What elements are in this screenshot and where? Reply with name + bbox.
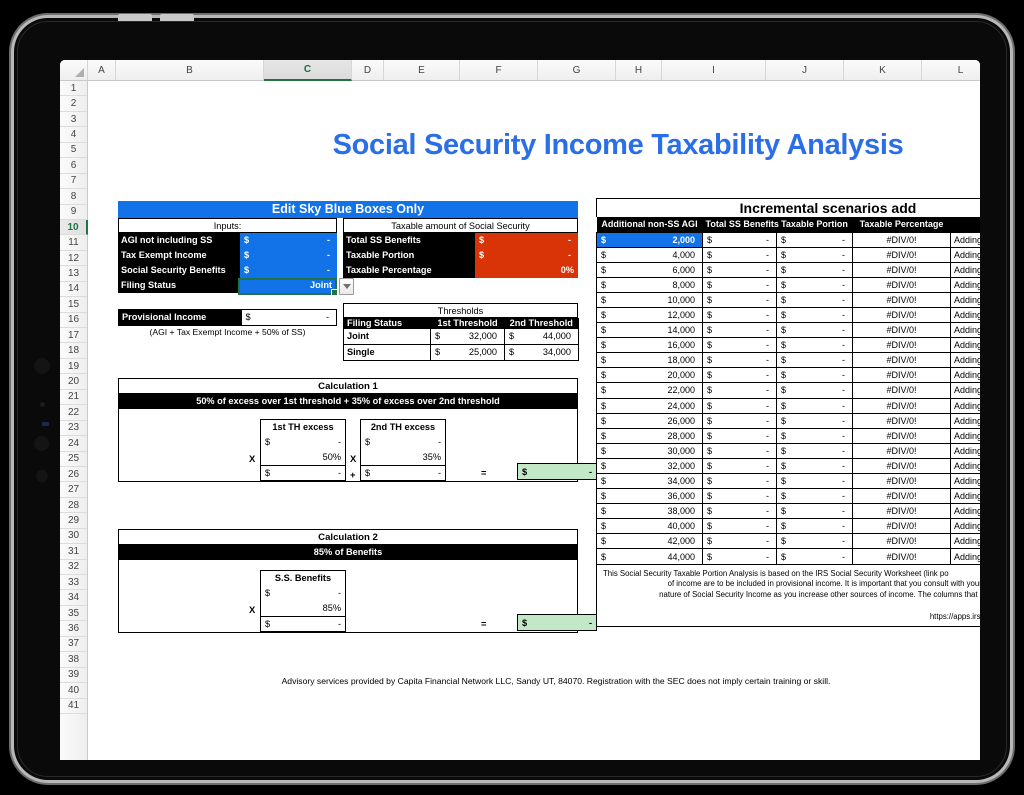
currency-symbol: $: [244, 233, 249, 248]
currency-symbol: $: [601, 416, 606, 426]
footnote-link[interactable]: https://apps.irs.gov/app/vita/content/g: [603, 612, 980, 623]
table-row[interactable]: $38,000$-$-#DIV/0!Adding $: [597, 504, 981, 519]
table-row[interactable]: $22,000$-$-#DIV/0!Adding $: [597, 383, 981, 398]
row-header-1[interactable]: 1: [60, 81, 87, 96]
taxable-label-portion: Taxable Portion: [343, 248, 475, 263]
currency-symbol: $: [365, 435, 370, 450]
volume-up-button[interactable]: [118, 14, 152, 21]
scenarios-col-ss: Total SS Benefits: [703, 217, 777, 232]
scenario-taxable-portion-7-value: -: [780, 340, 849, 350]
table-row[interactable]: $36,000$-$-#DIV/0!Adding $: [597, 489, 981, 504]
scenario-agi-15: $32,000: [597, 458, 703, 473]
scenario-total-ss-10-value: -: [706, 385, 773, 395]
table-row[interactable]: $42,000$-$-#DIV/0!Adding $: [597, 534, 981, 549]
scenario-effect-8: Adding $: [951, 353, 981, 368]
scenario-taxable-percentage-10: #DIV/0!: [853, 383, 951, 398]
scenario-taxable-portion-19-value: -: [780, 521, 849, 531]
scenario-taxable-percentage-2: #DIV/0!: [853, 262, 951, 277]
equals-operator: =: [481, 618, 486, 629]
table-row[interactable]: AGI not including SS $ -: [118, 233, 337, 248]
taxable-amount-table: Total SS Benefits $ - Taxable Portion $ …: [343, 233, 578, 278]
table-row[interactable]: $20,000$-$-#DIV/0!Adding $: [597, 368, 981, 383]
row-header-16[interactable]: 16: [60, 313, 87, 328]
calculation-2-body: X S.S. Benefits $ - 85% $ - =: [119, 560, 577, 632]
table-row[interactable]: $24,000$-$-#DIV/0!Adding $: [597, 398, 981, 413]
table-row[interactable]: $28,000$-$-#DIV/0!Adding $: [597, 428, 981, 443]
currency-symbol: $: [244, 248, 249, 263]
scenario-total-ss-17-value: -: [706, 491, 773, 501]
row-header-13[interactable]: 13: [60, 266, 87, 281]
scenario-taxable-portion-15: $-: [777, 458, 853, 473]
row-header-41[interactable]: 41: [60, 699, 87, 714]
scenario-agi-1-value: 4,000: [600, 250, 699, 260]
scenario-taxable-percentage-8: #DIV/0!: [853, 353, 951, 368]
scenario-taxable-percentage-14: #DIV/0!: [853, 443, 951, 458]
scenario-taxable-percentage-16: #DIV/0!: [853, 474, 951, 489]
scenario-agi-20-value: 42,000: [600, 536, 699, 546]
provisional-income-panel: Provisional Income $ -: [118, 309, 337, 326]
scenario-taxable-portion-14-value: -: [780, 446, 849, 456]
column-header-f[interactable]: F: [460, 60, 538, 80]
row-header-24[interactable]: 24: [60, 436, 87, 451]
scenario-taxable-portion-13: $-: [777, 428, 853, 443]
table-row: Total SS Benefits $ -: [343, 233, 578, 248]
scenario-taxable-portion-16-value: -: [780, 476, 849, 486]
scenario-agi-8: $18,000: [597, 353, 703, 368]
scenario-taxable-percentage-13: #DIV/0!: [853, 428, 951, 443]
footnote-line-2: of income are to be included in provisio…: [603, 579, 980, 590]
scenario-effect-11: Adding $: [951, 398, 981, 413]
scenario-total-ss-16-value: -: [706, 476, 773, 486]
scenario-agi-11-value: 24,000: [600, 401, 699, 411]
row-header-34[interactable]: 34: [60, 590, 87, 605]
table-row: Taxable Portion $ -: [343, 248, 578, 263]
scenario-agi-5-value: 12,000: [600, 310, 699, 320]
currency-symbol: $: [522, 464, 527, 481]
currency-symbol: $: [707, 235, 712, 245]
row-header-19[interactable]: 19: [60, 359, 87, 374]
row-header-29[interactable]: 29: [60, 513, 87, 528]
scenarios-col-tp: Taxable Portion: [777, 217, 853, 232]
table-row[interactable]: $6,000$-$-#DIV/0!Adding $: [597, 262, 981, 277]
second-threshold-excess-amount: -: [361, 435, 445, 450]
scenario-agi-7: $16,000: [597, 338, 703, 353]
row-header-33[interactable]: 33: [60, 575, 87, 590]
scenario-agi-12: $26,000: [597, 413, 703, 428]
scenario-total-ss-7: $-: [703, 338, 777, 353]
currency-symbol: $: [265, 435, 270, 450]
second-threshold-result-row: $ -: [361, 465, 445, 480]
taxable-value-percentage: 0%: [475, 263, 578, 278]
scenarios-footnote: This Social Security Taxable Portion Ana…: [596, 565, 980, 627]
scenarios-col-pct: Taxable Percentage: [853, 217, 951, 232]
page-title: Social Security Income Taxability Analys…: [238, 129, 980, 162]
scenario-taxable-portion-5: $-: [777, 307, 853, 322]
table-row[interactable]: Filing Status Joint: [118, 278, 337, 293]
row-header-40[interactable]: 40: [60, 683, 87, 698]
currency-symbol: $: [601, 431, 606, 441]
currency-symbol: $: [601, 536, 606, 546]
row-header-7[interactable]: 7: [60, 174, 87, 189]
scenario-taxable-portion-8: $-: [777, 353, 853, 368]
scenario-agi-20: $42,000: [597, 534, 703, 549]
row-header-22[interactable]: 22: [60, 405, 87, 420]
inputs-panel-header: Inputs:: [118, 218, 337, 233]
input-field-agi[interactable]: $ -: [240, 233, 337, 248]
volume-down-button[interactable]: [160, 14, 194, 21]
currency-symbol: $: [707, 310, 712, 320]
currency-symbol: $: [479, 233, 484, 248]
row-header-5[interactable]: 5: [60, 143, 87, 158]
input-field-tax-exempt[interactable]: $ -: [240, 248, 337, 263]
table-row: Provisional Income $ -: [119, 310, 337, 326]
currency-symbol: $: [781, 280, 786, 290]
scenario-agi-16-value: 34,000: [600, 476, 699, 486]
scenario-total-ss-18-value: -: [706, 506, 773, 516]
row-header-37[interactable]: 37: [60, 637, 87, 652]
row-header-30[interactable]: 30: [60, 529, 87, 544]
scenario-taxable-portion-15-value: -: [780, 461, 849, 471]
scenario-agi-4-value: 10,000: [600, 295, 699, 305]
column-header-g[interactable]: G: [538, 60, 616, 80]
row-header-27[interactable]: 27: [60, 482, 87, 497]
input-field-ss-benefits[interactable]: $ -: [240, 263, 337, 278]
scenario-total-ss-11: $-: [703, 398, 777, 413]
table-row[interactable]: $18,000$-$-#DIV/0!Adding $: [597, 353, 981, 368]
scenarios-table: Additional non-SS AGI Total SS Benefits …: [596, 217, 980, 565]
table-header-row: Additional non-SS AGI Total SS Benefits …: [597, 217, 981, 232]
currency-symbol: $: [707, 295, 712, 305]
calculation-2-result: $ -: [517, 614, 597, 631]
table-row: Taxable Percentage 0%: [343, 263, 578, 278]
scenario-taxable-portion-7: $-: [777, 338, 853, 353]
ss-benefits-amount-row: $ -: [261, 586, 345, 601]
row-header-32[interactable]: 32: [60, 560, 87, 575]
scenario-taxable-portion-0-value: -: [780, 235, 849, 245]
table-row[interactable]: Social Security Benefits $ -: [118, 263, 337, 278]
column-header-i[interactable]: I: [662, 60, 766, 80]
currency-symbol: $: [781, 491, 786, 501]
scenario-agi-21: $44,000: [597, 549, 703, 564]
row-header-25[interactable]: 25: [60, 452, 87, 467]
inputs-panel: Inputs: AGI not including SS $ - Tax Exe: [118, 218, 337, 293]
currency-symbol: $: [601, 446, 606, 456]
edit-instruction-banner: Edit Sky Blue Boxes Only: [118, 201, 578, 218]
table-row[interactable]: $4,000$-$-#DIV/0!Adding $: [597, 247, 981, 262]
ss-benefits-result: -: [261, 617, 345, 632]
taxable-value-total-ss-cell: $ -: [475, 233, 578, 248]
currency-symbol: $: [244, 263, 249, 278]
input-field-filing-status[interactable]: Joint: [240, 278, 337, 293]
threshold-status-joint: Joint: [344, 329, 431, 345]
currency-symbol: $: [601, 235, 606, 245]
scenario-taxable-percentage-1: #DIV/0!: [853, 247, 951, 262]
calculation-1-subtitle: 50% of excess over 1st threshold + 35% o…: [119, 394, 577, 409]
scenario-taxable-portion-17-value: -: [780, 491, 849, 501]
input-value-tax-exempt: -: [243, 248, 334, 263]
footnote-line-1: This Social Security Taxable Portion Ana…: [603, 569, 980, 580]
scenario-total-ss-5-value: -: [706, 310, 773, 320]
table-row[interactable]: $14,000$-$-#DIV/0!Adding $: [597, 323, 981, 338]
scenario-agi-18: $38,000: [597, 504, 703, 519]
column-header-c[interactable]: C: [264, 60, 352, 81]
scenario-taxable-percentage-5: #DIV/0!: [853, 307, 951, 322]
first-threshold-result: -: [261, 466, 345, 481]
chevron-down-icon: [343, 284, 351, 289]
column-header-k[interactable]: K: [844, 60, 922, 80]
scenario-total-ss-1: $-: [703, 247, 777, 262]
threshold-joint-second: $ 44,000: [505, 329, 579, 345]
scenarios-title: Incremental scenarios add: [596, 198, 980, 217]
currency-symbol: $: [707, 552, 712, 562]
row-header-26[interactable]: 26: [60, 467, 87, 482]
row-header-bar: 1234567891011121314151617181920212223242…: [60, 81, 88, 760]
footnote-line-3: nature of Social Security Income as you …: [603, 590, 980, 601]
currency-symbol: $: [781, 476, 786, 486]
currency-symbol: $: [707, 355, 712, 365]
row-header-14[interactable]: 14: [60, 282, 87, 297]
currency-symbol: $: [707, 446, 712, 456]
column-header-e[interactable]: E: [384, 60, 460, 80]
currency-symbol: $: [707, 325, 712, 335]
provisional-income-value-cell: $ -: [241, 310, 336, 326]
scenario-taxable-portion-5-value: -: [780, 310, 849, 320]
row-header-8[interactable]: 8: [60, 189, 87, 204]
scenario-total-ss-21: $-: [703, 549, 777, 564]
column-header-b[interactable]: B: [116, 60, 264, 80]
taxable-amount-panel: Taxable amount of Social Security Total …: [343, 218, 578, 278]
currency-symbol: $: [707, 536, 712, 546]
scenario-total-ss-18: $-: [703, 504, 777, 519]
row-header-31[interactable]: 31: [60, 544, 87, 559]
currency-symbol: $: [601, 401, 606, 411]
indicator-led-icon: [42, 422, 49, 426]
calculation-1-result: $ -: [517, 463, 597, 480]
row-header-20[interactable]: 20: [60, 374, 87, 389]
scenario-effect-18: Adding $: [951, 504, 981, 519]
table-row[interactable]: $2,000$-$-#DIV/0!Adding $: [597, 232, 981, 247]
column-header-bar: A B C D E F G H I J K L: [60, 60, 980, 81]
row-header-17[interactable]: 17: [60, 328, 87, 343]
currency-symbol: $: [601, 355, 606, 365]
currency-symbol: $: [707, 491, 712, 501]
thresholds-col-first: 1st Threshold: [431, 318, 505, 329]
threshold-status-single: Single: [344, 345, 431, 361]
taxable-value-total-ss: -: [478, 233, 575, 248]
scenario-agi-11: $24,000: [597, 398, 703, 413]
scenario-taxable-portion-19: $-: [777, 519, 853, 534]
second-threshold-excess-header: 2nd TH excess: [361, 420, 445, 435]
table-row[interactable]: $10,000$-$-#DIV/0!Adding $: [597, 292, 981, 307]
scenario-total-ss-0: $-: [703, 232, 777, 247]
scenario-taxable-portion-18-value: -: [780, 506, 849, 516]
scenario-total-ss-1-value: -: [706, 250, 773, 260]
currency-symbol: $: [479, 248, 484, 263]
scenario-agi-10-value: 22,000: [600, 385, 699, 395]
row-header-23[interactable]: 23: [60, 421, 87, 436]
second-threshold-result: -: [361, 466, 445, 481]
currency-symbol: $: [781, 295, 786, 305]
column-header-a[interactable]: A: [88, 60, 116, 80]
ss-benefits-box: S.S. Benefits $ - 85% $ -: [260, 570, 346, 632]
scenario-taxable-portion-3: $-: [777, 277, 853, 292]
calculation-2-title: Calculation 2: [119, 530, 577, 545]
scenarios-col-effect: Effe: [951, 217, 981, 232]
currency-symbol: $: [365, 466, 370, 481]
scenario-agi-4: $10,000: [597, 292, 703, 307]
scenario-total-ss-16: $-: [703, 474, 777, 489]
currency-symbol: $: [707, 476, 712, 486]
row-header-3[interactable]: 3: [60, 112, 87, 127]
calculation-1-body: X 1st TH excess $ - 50% $ - +: [119, 409, 577, 481]
scenario-total-ss-4-value: -: [706, 295, 773, 305]
scenario-total-ss-5: $-: [703, 307, 777, 322]
table-row[interactable]: $34,000$-$-#DIV/0!Adding $: [597, 474, 981, 489]
scenario-total-ss-3-value: -: [706, 280, 773, 290]
scenario-agi-16: $34,000: [597, 474, 703, 489]
scenario-effect-0: Adding $: [951, 232, 981, 247]
scenario-agi-5: $12,000: [597, 307, 703, 322]
row-header-18[interactable]: 18: [60, 343, 87, 358]
scenario-total-ss-21-value: -: [706, 552, 773, 562]
currency-symbol: $: [781, 446, 786, 456]
row-header-12[interactable]: 12: [60, 251, 87, 266]
filing-status-dropdown-button[interactable]: [339, 278, 354, 295]
first-threshold-excess-amount: -: [261, 435, 345, 450]
incremental-scenarios-panel: Incremental scenarios add Additional non…: [596, 198, 980, 627]
table-row[interactable]: $32,000$-$-#DIV/0!Adding $: [597, 458, 981, 473]
scenario-effect-15: Adding $: [951, 458, 981, 473]
column-header-l[interactable]: L: [922, 60, 980, 80]
scenario-taxable-portion-21: $-: [777, 549, 853, 564]
scenario-total-ss-3: $-: [703, 277, 777, 292]
currency-symbol: $: [781, 552, 786, 562]
scenario-effect-21: Adding $: [951, 549, 981, 564]
scenario-taxable-percentage-7: #DIV/0!: [853, 338, 951, 353]
table-row[interactable]: $44,000$-$-#DIV/0!Adding $: [597, 549, 981, 564]
scenario-agi-9: $20,000: [597, 368, 703, 383]
currency-symbol: $: [601, 325, 606, 335]
row-header-38[interactable]: 38: [60, 652, 87, 667]
row-header-35[interactable]: 35: [60, 606, 87, 621]
row-header-39[interactable]: 39: [60, 668, 87, 683]
scenario-agi-14-value: 30,000: [600, 446, 699, 456]
scenario-agi-1: $4,000: [597, 247, 703, 262]
row-header-6[interactable]: 6: [60, 158, 87, 173]
scenario-taxable-portion-13-value: -: [780, 431, 849, 441]
taxable-amount-header: Taxable amount of Social Security: [343, 218, 578, 233]
thresholds-col-second: 2nd Threshold: [505, 318, 579, 329]
currency-symbol: $: [707, 250, 712, 260]
scenario-effect-3: Adding $: [951, 277, 981, 292]
table-row[interactable]: $16,000$-$-#DIV/0!Adding $: [597, 338, 981, 353]
currency-symbol: $: [781, 506, 786, 516]
front-camera-icon: [34, 358, 50, 374]
scenario-taxable-portion-18: $-: [777, 504, 853, 519]
table-row[interactable]: $40,000$-$-#DIV/0!Adding $: [597, 519, 981, 534]
scenario-agi-3: $8,000: [597, 277, 703, 292]
scenario-agi-6: $14,000: [597, 323, 703, 338]
scenario-taxable-percentage-17: #DIV/0!: [853, 489, 951, 504]
taxable-label-total-ss: Total SS Benefits: [343, 233, 475, 248]
scenario-taxable-portion-6-value: -: [780, 325, 849, 335]
scenario-agi-2: $6,000: [597, 262, 703, 277]
row-header-10[interactable]: 10: [60, 220, 88, 235]
scenario-taxable-percentage-3: #DIV/0!: [853, 277, 951, 292]
scenario-effect-12: Adding $: [951, 413, 981, 428]
scenario-agi-12-value: 26,000: [600, 416, 699, 426]
currency-symbol: $: [509, 329, 514, 344]
scenario-total-ss-15-value: -: [706, 461, 773, 471]
calculation-2-result-value: -: [518, 615, 596, 632]
row-header-21[interactable]: 21: [60, 390, 87, 405]
scenario-taxable-portion-9: $-: [777, 368, 853, 383]
currency-symbol: $: [707, 506, 712, 516]
currency-symbol: $: [781, 340, 786, 350]
row-header-11[interactable]: 11: [60, 235, 87, 250]
tablet-screen: A B C D E F G H I J K L 1234567891011121…: [60, 60, 980, 760]
scenario-total-ss-17: $-: [703, 489, 777, 504]
column-header-d[interactable]: D: [352, 60, 384, 80]
scenario-total-ss-19: $-: [703, 519, 777, 534]
scenario-effect-7: Adding $: [951, 338, 981, 353]
ambient-sensor-icon: [40, 402, 45, 407]
scenario-taxable-portion-17: $-: [777, 489, 853, 504]
taxable-value-portion: -: [478, 248, 575, 263]
currency-symbol: $: [707, 265, 712, 275]
scenario-total-ss-14: $-: [703, 443, 777, 458]
scenario-total-ss-12-value: -: [706, 416, 773, 426]
table-row[interactable]: $30,000$-$-#DIV/0!Adding $: [597, 443, 981, 458]
scenario-agi-8-value: 18,000: [600, 355, 699, 365]
taxable-label-percentage: Taxable Percentage: [343, 263, 475, 278]
scenario-total-ss-9-value: -: [706, 370, 773, 380]
provisional-income-table: Provisional Income $ -: [118, 309, 337, 326]
thresholds-panel: Thresholds Filing Status 1st Threshold 2…: [343, 303, 578, 361]
table-row[interactable]: $12,000$-$-#DIV/0!Adding $: [597, 307, 981, 322]
table-row[interactable]: Tax Exempt Income $ -: [118, 248, 337, 263]
scenario-agi-6-value: 14,000: [600, 325, 699, 335]
scenario-taxable-percentage-20: #DIV/0!: [853, 534, 951, 549]
table-row[interactable]: $8,000$-$-#DIV/0!Adding $: [597, 277, 981, 292]
scenario-taxable-portion-11: $-: [777, 398, 853, 413]
scenario-total-ss-9: $-: [703, 368, 777, 383]
input-label-agi: AGI not including SS: [118, 233, 240, 248]
currency-symbol: $: [707, 461, 712, 471]
currency-symbol: $: [781, 250, 786, 260]
scenario-agi-17: $36,000: [597, 489, 703, 504]
table-row[interactable]: $26,000$-$-#DIV/0!Adding $: [597, 413, 981, 428]
currency-symbol: $: [781, 265, 786, 275]
row-header-28[interactable]: 28: [60, 498, 87, 513]
select-all-corner-button[interactable]: [60, 60, 88, 80]
scenario-taxable-portion-14: $-: [777, 443, 853, 458]
threshold-joint-first: $ 32,000: [431, 329, 505, 345]
scenario-taxable-portion-12-value: -: [780, 416, 849, 426]
row-header-15[interactable]: 15: [60, 297, 87, 312]
row-header-9[interactable]: 9: [60, 205, 87, 220]
scenario-taxable-portion-20: $-: [777, 534, 853, 549]
scenario-taxable-portion-1: $-: [777, 247, 853, 262]
column-header-j[interactable]: J: [766, 60, 844, 80]
calculation-2-subtitle: 85% of Benefits: [119, 545, 577, 560]
column-header-h[interactable]: H: [616, 60, 662, 80]
row-header-4[interactable]: 4: [60, 127, 87, 142]
taxable-value-portion-cell: $ -: [475, 248, 578, 263]
scenario-agi-18-value: 38,000: [600, 506, 699, 516]
row-header-2[interactable]: 2: [60, 96, 87, 111]
row-header-36[interactable]: 36: [60, 621, 87, 636]
